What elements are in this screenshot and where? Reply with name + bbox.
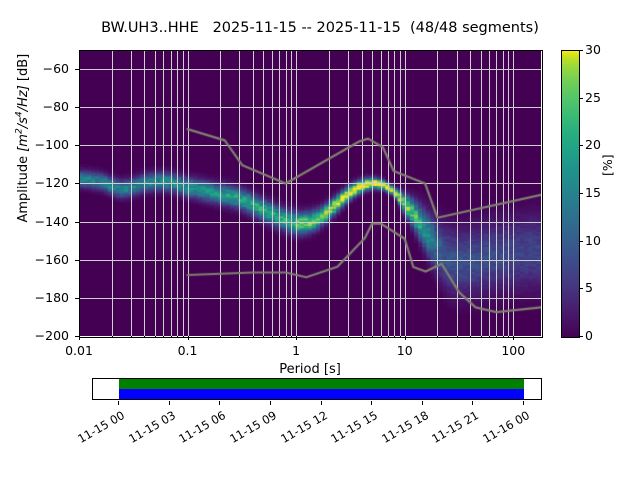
colorbar-tick-label: 20: [585, 137, 601, 152]
y-tick-label: −80: [3, 99, 69, 114]
x-minor-tick: [388, 336, 389, 338]
x-minor-tick: [239, 336, 240, 338]
timeline-tick: [371, 401, 372, 405]
x-minor-tick: [155, 336, 156, 338]
x-minor-tick: [183, 336, 184, 338]
colorbar-tick: [579, 288, 583, 289]
colorbar-tick-label: 10: [585, 233, 601, 248]
x-minor-tick: [220, 336, 221, 338]
timeline-tick: [219, 401, 220, 405]
x-tick: [188, 336, 189, 340]
y-tick: [75, 183, 79, 184]
x-minor-tick: [177, 336, 178, 338]
colorbar-tick: [579, 241, 583, 242]
x-minor-tick: [279, 336, 280, 338]
timeline-tick: [523, 401, 524, 405]
y-tick: [75, 145, 79, 146]
x-minor-tick: [481, 336, 482, 338]
x-tick-label: 1: [256, 343, 336, 358]
y-tick-label: −200: [3, 328, 69, 343]
y-tick-label: −160: [3, 252, 69, 267]
colorbar-tick: [579, 336, 583, 337]
y-tick-label: −100: [3, 137, 69, 152]
x-minor-tick: [272, 336, 273, 338]
x-minor-tick: [291, 336, 292, 338]
x-tick: [79, 336, 80, 340]
x-minor-tick: [394, 336, 395, 338]
x-minor-tick: [437, 336, 438, 338]
x-minor-tick: [496, 336, 497, 338]
x-tick-label: 10: [365, 343, 445, 358]
y-tick: [75, 260, 79, 261]
timeline-tick-label: 11-16 00: [473, 408, 532, 450]
timeline-tick-label: 11-15 06: [169, 408, 228, 450]
colorbar-tick: [579, 145, 583, 146]
y-tick: [75, 107, 79, 108]
timeline-tick: [270, 401, 271, 405]
x-tick-label: 0.01: [39, 343, 119, 358]
colorbar-tick: [579, 98, 583, 99]
data-coverage-timeline[interactable]: [92, 378, 542, 400]
x-minor-tick: [144, 336, 145, 338]
x-minor-tick: [286, 336, 287, 338]
x-minor-tick: [253, 336, 254, 338]
data-coverage-green: [119, 379, 524, 389]
x-minor-tick: [372, 336, 373, 338]
x-minor-tick: [362, 336, 363, 338]
x-minor-tick: [503, 336, 504, 338]
y-tick: [75, 69, 79, 70]
x-minor-tick: [400, 336, 401, 338]
timeline-tick-label: 11-15 09: [220, 408, 279, 450]
colorbar-tick: [579, 50, 583, 51]
plot-title: BW.UH3..HHE 2025-11-15 -- 2025-11-15 (48…: [0, 20, 640, 36]
x-minor-tick: [131, 336, 132, 338]
x-tick-label: 0.1: [148, 343, 228, 358]
x-minor-tick: [348, 336, 349, 338]
colorbar: [561, 50, 580, 338]
colorbar-tick-label: 15: [585, 185, 601, 200]
x-minor-tick: [381, 336, 382, 338]
colorbar-tick: [579, 193, 583, 194]
timeline-tick: [422, 401, 423, 405]
timeline-tick-label: 11-15 12: [271, 408, 330, 450]
y-tick-label: −60: [3, 61, 69, 76]
y-tick: [75, 298, 79, 299]
x-minor-tick: [329, 336, 330, 338]
colorbar-tick-label: 30: [585, 42, 601, 57]
y-tick-label: −180: [3, 290, 69, 305]
ppsd-figure: BW.UH3..HHE 2025-11-15 -- 2025-11-15 (48…: [0, 0, 640, 480]
x-minor-tick: [489, 336, 490, 338]
ppsd-axes: [79, 50, 541, 336]
timeline-tick-label: 11-15 00: [68, 408, 127, 450]
timeline-tick-label: 11-15 21: [423, 408, 482, 450]
x-tick: [513, 336, 514, 340]
timeline-tick: [169, 401, 170, 405]
colorbar-label: [%]: [600, 154, 615, 176]
x-axis-label: Period [s]: [79, 362, 541, 377]
x-tick-label: 100: [473, 343, 553, 358]
y-tick: [75, 222, 79, 223]
timeline-tick: [118, 401, 119, 405]
timeline-tick-label: 11-15 03: [119, 408, 178, 450]
colorbar-tick-label: 25: [585, 90, 601, 105]
x-minor-tick: [470, 336, 471, 338]
x-minor-tick: [263, 336, 264, 338]
timeline-tick: [472, 401, 473, 405]
y-tick-label: −120: [3, 175, 69, 190]
colorbar-tick-label: 0: [585, 328, 593, 343]
x-minor-tick: [163, 336, 164, 338]
noise-model-overlay: [79, 50, 541, 336]
x-minor-tick: [508, 336, 509, 338]
x-minor-tick: [171, 336, 172, 338]
y-tick-label: −140: [3, 214, 69, 229]
x-minor-tick: [457, 336, 458, 338]
x-minor-tick: [112, 336, 113, 338]
x-tick: [405, 336, 406, 340]
data-coverage-blue: [119, 389, 524, 399]
x-tick: [296, 336, 297, 340]
timeline-tick: [321, 401, 322, 405]
timeline-tick-label: 11-15 18: [372, 408, 431, 450]
colorbar-tick-label: 5: [585, 280, 593, 295]
timeline-tick-label: 11-15 15: [321, 408, 380, 450]
